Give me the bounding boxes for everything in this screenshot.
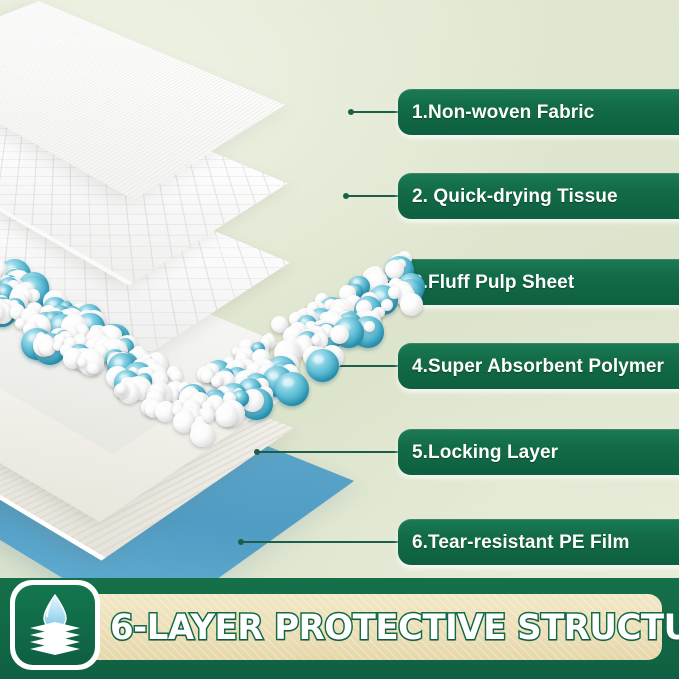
label-layer-2[interactable]: 2. Quick-drying Tissue [398,173,679,219]
label-layer-6[interactable]: 6.Tear-resistant PE Film [398,519,679,565]
connector-line-5 [256,451,400,453]
connector-line-6 [240,541,400,543]
connector-line-1 [350,111,400,113]
product-layer-diagram: 1.Non-woven Fabric 2. Quick-drying Tissu… [0,0,679,679]
banner-title: 6-LAYER PROTECTIVE STRUCTURE [110,602,655,654]
label-layer-5[interactable]: 5.Locking Layer [398,429,679,475]
banner-title-text: 6-LAYER PROTECTIVE STRUCTURE [110,608,679,648]
layer-stack-illustration [0,0,420,580]
label-layer-4[interactable]: 4.Super Absorbent Polymer [398,343,679,389]
label-layer-6-text: 6.Tear-resistant PE Film [398,532,629,554]
label-layer-3[interactable]: 3.Fluff Pulp Sheet [398,259,679,305]
badge-inner [15,585,95,665]
label-layer-1[interactable]: 1.Non-woven Fabric [398,89,679,135]
label-layer-1-text: 1.Non-woven Fabric [398,102,594,124]
connector-line-2 [345,195,400,197]
label-layer-4-text: 4.Super Absorbent Polymer [398,356,664,378]
label-layer-2-text: 2. Quick-drying Tissue [398,186,618,208]
water-drop-layers-icon [24,593,86,657]
bottom-banner: 6-LAYER PROTECTIVE STRUCTURE [0,578,679,679]
water-drop-layers-badge [10,580,100,670]
label-layer-5-text: 5.Locking Layer [398,442,558,464]
